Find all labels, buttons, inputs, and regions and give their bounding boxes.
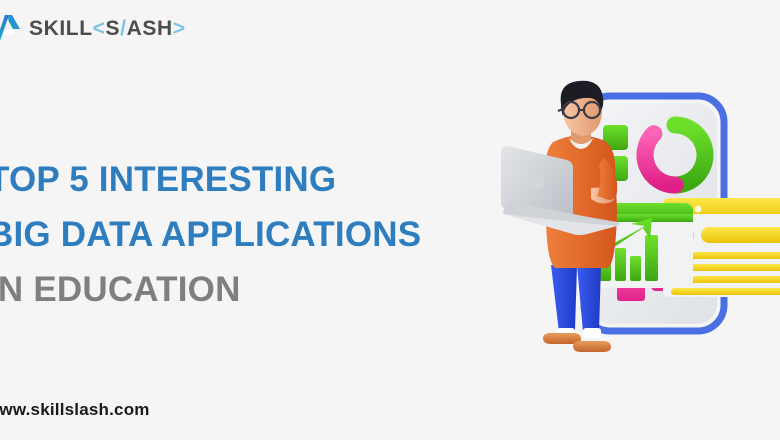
illustration-svg [495,80,780,370]
skillslash-arrow-mark [0,13,22,43]
logo-text-s: S [106,17,121,40]
logo-text-skill: SKILL [29,17,93,40]
headline-block: TOP 5 INTERESTING BIG DATA APPLICATIONS … [0,152,508,317]
headline-line-1: TOP 5 INTERESTING [0,152,508,207]
logo-wordmark: SKILL<S/ASH> [29,18,186,39]
headline-line-3: IN EDUCATION [0,262,508,317]
headline-line-2: BIG DATA APPLICATIONS [0,207,508,262]
hero-illustration [495,80,780,370]
skillslash-logo[interactable]: SKILL<S/ASH> [0,12,186,44]
logo-text-ash: ASH [127,17,173,40]
logo-text-bracket-close: > [173,17,186,40]
banner-graphic: SKILL<S/ASH> TOP 5 INTERESTING BIG DATA … [0,0,780,440]
website-url[interactable]: www.skillslash.com [0,400,150,420]
logo-text-bracket-open: < [93,17,106,40]
